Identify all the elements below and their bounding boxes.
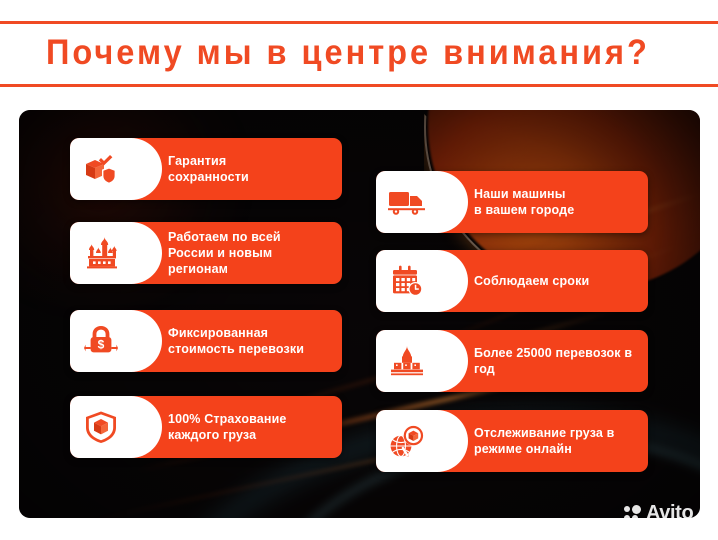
icon-plate <box>376 330 438 392</box>
feature-card-insurance[interactable]: 100% Страхование каждого груза <box>70 396 342 458</box>
icon-plate <box>70 138 132 200</box>
feature-card-label: Фиксированная стоимость перевозки <box>132 310 342 372</box>
feature-card-label: 100% Страхование каждого груза <box>132 396 342 458</box>
avito-wordmark: Avito <box>646 503 693 523</box>
kremlin-cathedral-icon <box>82 237 120 269</box>
feature-card-label: Гарантия сохранности <box>132 138 342 200</box>
feature-card-deadlines[interactable]: Соблюдаем сроки <box>376 250 648 312</box>
icon-plate <box>376 250 438 312</box>
icon-plate: $ <box>70 310 132 372</box>
icon-plate <box>376 410 438 472</box>
icon-plate <box>70 396 132 458</box>
icon-plate <box>70 222 132 284</box>
features-panel: Гарантия сохранности <box>19 110 700 518</box>
padlock-dollar-icon: $ <box>84 324 118 358</box>
avito-watermark: Avito <box>624 503 693 523</box>
feature-card-label: Наши машины в вашем городе <box>438 171 648 233</box>
feature-card-fixed-price[interactable]: $ Фиксированная стоимость перевозки <box>70 310 342 372</box>
feature-card-tracking[interactable]: Отслеживание груза в режиме онлайн <box>376 410 648 472</box>
box-check-shield-icon <box>84 153 118 185</box>
feature-card-label: Отслеживание груза в режиме онлайн <box>438 410 648 472</box>
icon-plate <box>376 171 438 233</box>
feature-card-label: Работаем по всей России и новым регионам <box>132 222 342 284</box>
truck-icon <box>388 188 426 216</box>
feature-card-label: Более 25000 перевозок в год <box>438 330 648 392</box>
slide-root: Почему мы в центре внимания? <box>0 0 718 540</box>
title-rule-top <box>0 21 718 24</box>
feature-card-label: Соблюдаем сроки <box>438 250 648 312</box>
feature-card-volume[interactable]: Более 25000 перевозок в год <box>376 330 648 392</box>
shield-cube-icon <box>84 410 118 444</box>
globe-search-package-icon <box>389 424 425 458</box>
feature-card-coverage[interactable]: Работаем по всей России и новым регионам <box>70 222 342 284</box>
calendar-clock-icon <box>390 265 424 297</box>
feature-card-guarantee[interactable]: Гарантия сохранности <box>70 138 342 200</box>
feature-card-local-trucks[interactable]: Наши машины в вашем городе <box>376 171 648 233</box>
title-rule-bottom <box>0 84 718 87</box>
warehouse-boxes-icon <box>388 345 426 377</box>
page-title: Почему мы в центре внимания? <box>46 28 650 78</box>
svg-text:$: $ <box>98 338 105 352</box>
avito-dots-icon <box>624 505 641 522</box>
